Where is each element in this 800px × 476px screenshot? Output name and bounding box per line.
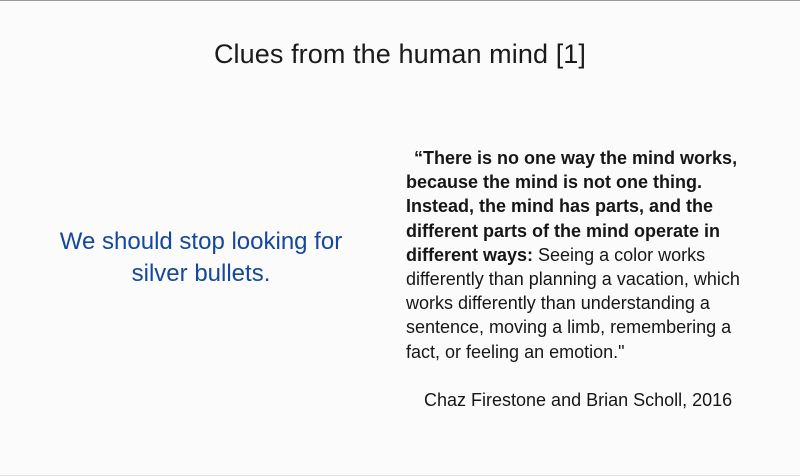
page-title: Clues from the human mind [1] bbox=[0, 37, 800, 71]
quotation-block: “There is no one way the mind works, bec… bbox=[406, 146, 746, 412]
quote-open-mark: “ bbox=[406, 146, 423, 170]
key-statement-text: We should stop looking for silver bullet… bbox=[36, 226, 366, 290]
quotation-attribution: Chaz Firestone and Brian Scholl, 2016 bbox=[406, 388, 746, 412]
slide-canvas: Clues from the human mind [1] We should … bbox=[0, 0, 800, 476]
quotation-text: “There is no one way the mind works, bec… bbox=[406, 146, 746, 364]
